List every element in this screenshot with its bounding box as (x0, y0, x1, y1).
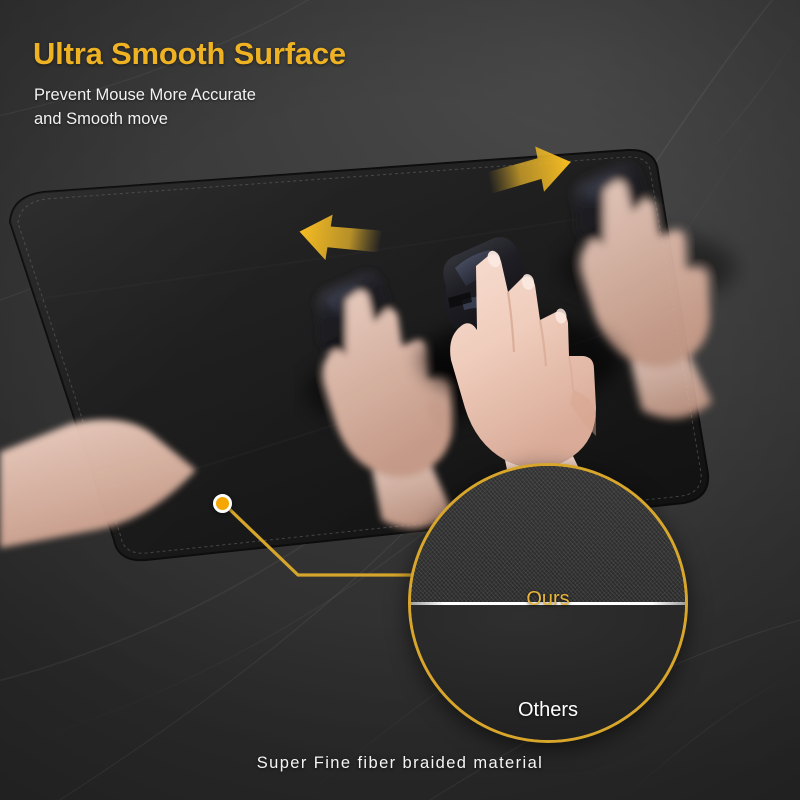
material-comparison-callout: Ours Others (408, 463, 688, 743)
callout-marker-dot-icon (213, 494, 232, 513)
material-caption: Super Fine fiber braided material (0, 754, 800, 773)
product-feature-image: Ultra Smooth Surface Prevent Mouse More … (0, 0, 800, 800)
ours-label: Ours (411, 588, 685, 611)
others-label: Others (411, 699, 685, 722)
ours-surface-texture (411, 466, 685, 603)
